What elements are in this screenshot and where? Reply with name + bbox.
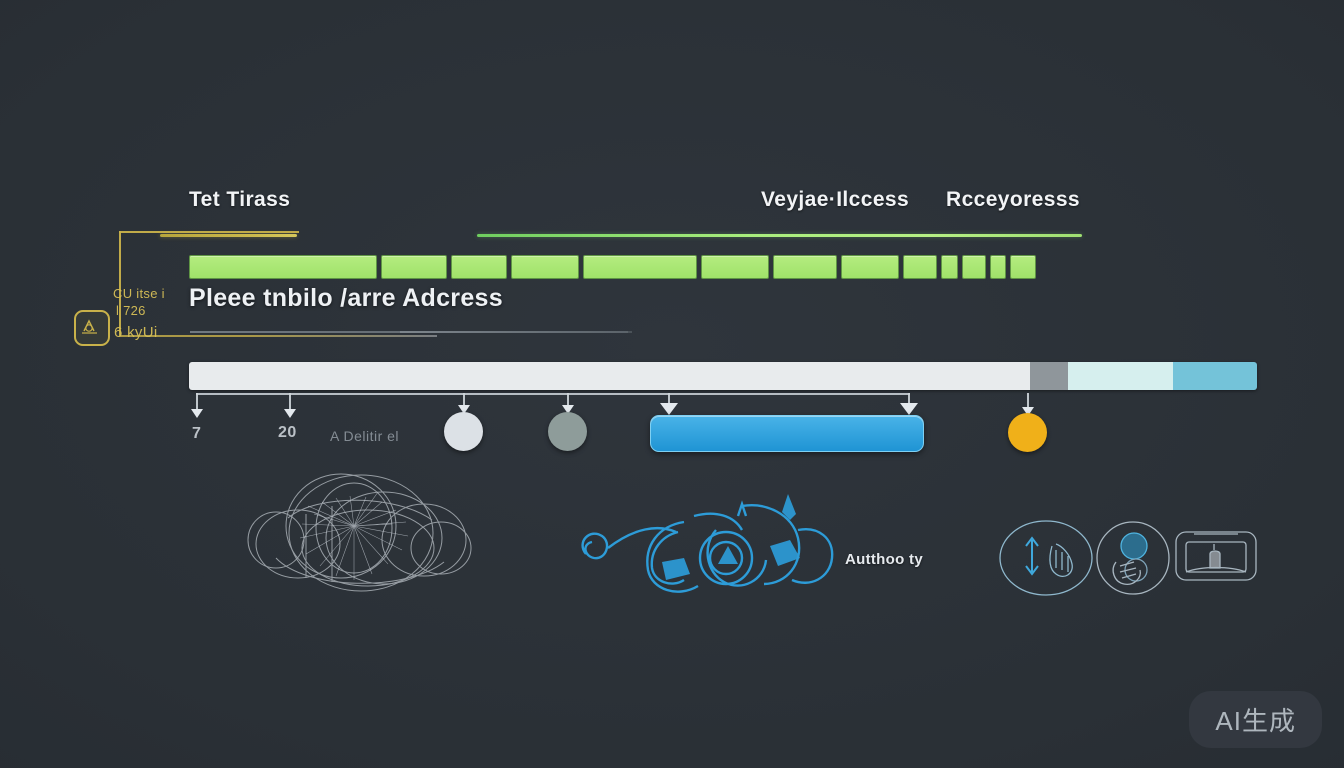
art-badge-screen[interactable]	[1172, 524, 1260, 590]
rule-green	[477, 234, 1082, 237]
marker-label-note: A Delitir el	[330, 428, 399, 444]
track-segment-pale[interactable]	[1068, 362, 1173, 390]
marker-arrow-2-stem	[289, 393, 291, 409]
marker-arrow-1	[191, 409, 203, 418]
marker-dot-yellow[interactable]	[1008, 413, 1047, 452]
callout-line-horizontal	[119, 231, 299, 233]
segment-2[interactable]	[381, 255, 447, 279]
art-badge-pointer[interactable]	[996, 516, 1096, 600]
marker-arrow-5-stem	[668, 393, 670, 403]
marker-label-20: 20	[278, 424, 297, 442]
marker-arrow-6	[900, 403, 918, 415]
marker-arrow-3-stem	[463, 393, 465, 405]
art-badge-coins[interactable]	[1094, 518, 1172, 598]
track-segment-cyan[interactable]	[1173, 362, 1257, 390]
marker-arrow-4-stem	[567, 393, 569, 405]
segment-12[interactable]	[990, 255, 1006, 279]
marker-arrow-1-stem	[196, 393, 198, 409]
segmented-progress-bar[interactable]	[189, 255, 1036, 277]
segment-3[interactable]	[451, 255, 507, 279]
header-right: Rcceyoresss	[946, 188, 1080, 212]
status-track[interactable]	[189, 362, 1257, 390]
segment-6[interactable]	[701, 255, 769, 279]
header-mid: Veyjae·Ilccess	[761, 188, 909, 212]
segment-4[interactable]	[511, 255, 579, 279]
segment-8[interactable]	[841, 255, 899, 279]
selected-range-pill[interactable]	[650, 415, 924, 452]
marker-arrow-2	[284, 409, 296, 418]
segment-11[interactable]	[962, 255, 986, 279]
segment-5[interactable]	[583, 255, 697, 279]
segment-13[interactable]	[1010, 255, 1036, 279]
marker-dot-grey[interactable]	[548, 412, 587, 451]
segment-9[interactable]	[903, 255, 937, 279]
header-left: Tet Tirass	[189, 188, 290, 212]
callout-text-1: CU itse i	[113, 286, 165, 301]
marker-arrow-7-stem	[1027, 393, 1029, 407]
callout-badge-icon[interactable]	[74, 310, 110, 346]
track-segment-grey[interactable]	[1030, 362, 1068, 390]
callout-text-2: l 726	[116, 303, 146, 318]
authority-label: Autthoo ty	[845, 551, 923, 568]
marker-dot-white[interactable]	[444, 412, 483, 451]
marker-rail	[196, 393, 910, 395]
callout-line-vertical	[119, 231, 121, 335]
headline-underline-2	[400, 331, 632, 333]
ai-watermark: AI生成	[1189, 691, 1322, 748]
rule-olive	[160, 234, 297, 237]
segment-1[interactable]	[189, 255, 377, 279]
marker-label-7: 7	[192, 425, 201, 443]
marker-arrow-5	[660, 403, 678, 415]
marker-arrow-6-stem	[908, 393, 910, 403]
art-cluster-blue	[566, 486, 856, 606]
callout-line-bottom	[119, 335, 437, 337]
segment-10[interactable]	[941, 255, 958, 279]
canvas: Tet Tirass Veyjae·Ilccess Rcceyoresss Pl…	[0, 0, 1344, 768]
art-cluster-rings	[236, 458, 486, 613]
track-segment-light[interactable]	[189, 362, 1030, 390]
headline-text: Pleee tnbilo /arre Adcress	[189, 284, 503, 313]
callout-text-3: 6 kyUi	[114, 324, 157, 341]
segment-7[interactable]	[773, 255, 837, 279]
